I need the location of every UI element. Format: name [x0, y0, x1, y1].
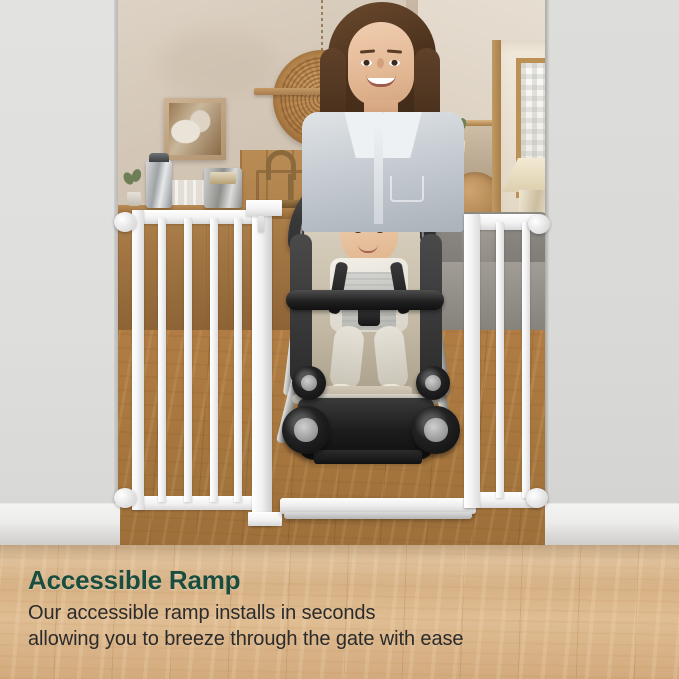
gate-left-post — [132, 210, 144, 510]
right-wall — [547, 0, 679, 545]
right-baseboard — [545, 503, 679, 545]
gate-post-foot — [248, 512, 282, 526]
caption-block: Accessible Ramp Our accessible ramp inst… — [28, 566, 638, 652]
eyebrow — [360, 49, 375, 53]
baby-gate[interactable] — [118, 196, 548, 545]
eye — [389, 60, 400, 66]
framed-art — [164, 98, 226, 160]
caption-line-2: allowing you to breeze through the gate … — [28, 626, 638, 652]
pressure-mount-knob-bottom-right[interactable] — [526, 488, 548, 508]
pressure-mount-knob-top-left[interactable] — [114, 212, 136, 232]
caption-body: Our accessible ramp installs in seconds … — [28, 600, 638, 652]
gate-post-cap — [246, 200, 282, 216]
pressure-mount-knob-top-right[interactable] — [528, 214, 550, 234]
ramp-edge — [284, 512, 472, 519]
gate-bar — [522, 222, 530, 498]
pressure-mount-knob-bottom-left[interactable] — [114, 488, 136, 508]
gate-bar — [210, 218, 218, 502]
caption-line-1: Our accessible ramp installs in seconds — [28, 600, 638, 626]
gate-center-post — [252, 200, 272, 526]
floor-shadow — [0, 545, 679, 561]
gate-bar — [158, 218, 166, 502]
caption-title: Accessible Ramp — [28, 566, 638, 595]
product-lifestyle-image: Accessible Ramp Our accessible ramp inst… — [0, 0, 679, 679]
gate-bar — [184, 218, 192, 502]
gate-right-post — [464, 214, 480, 508]
eye — [361, 60, 372, 66]
nose — [377, 58, 384, 68]
artwork-canvas — [169, 103, 221, 155]
gate-latch[interactable] — [258, 216, 264, 232]
gate-bar — [496, 222, 504, 498]
left-baseboard — [0, 503, 120, 545]
gate-bar — [234, 218, 242, 502]
eyebrow — [387, 49, 402, 53]
room-scene — [0, 0, 679, 545]
left-wall — [0, 0, 118, 545]
